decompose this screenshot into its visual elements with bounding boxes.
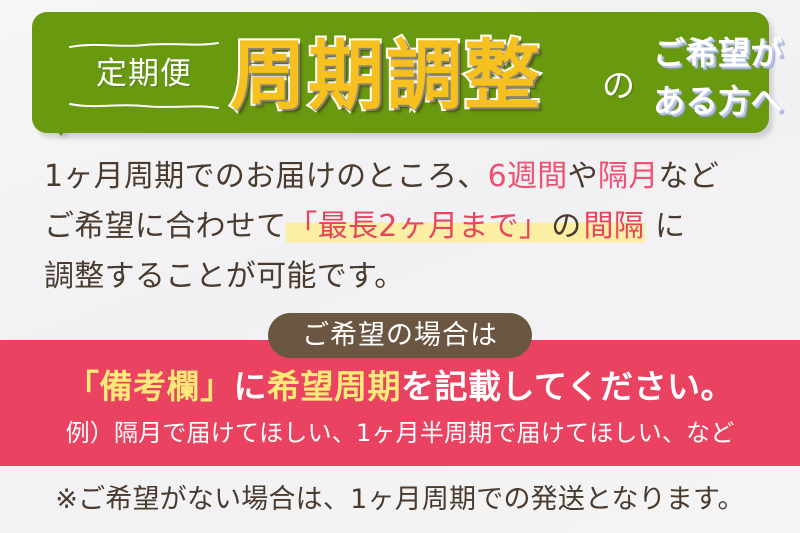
header-banner: 定期便 周期調整 の ご希望が ある方へ (32, 12, 769, 133)
description-paragraph: 1ヶ月周期でのお届けのところ、6週間や隔月など ご希望に合わせて「最長2ヶ月まで… (44, 152, 774, 302)
description-line1-part-c: や (568, 159, 598, 194)
description-line2-part-a: ご希望に合わせて (44, 209, 286, 244)
description-line-3: 調整することが可能です。 (44, 252, 774, 302)
description-line1-highlight-6weeks: 6週間 (488, 159, 568, 194)
promo-graphic: 定期便 周期調整 の ご希望が ある方へ 1ヶ月周期でのお届けのところ、6週間や… (0, 0, 800, 533)
description-line1-part-a: 1ヶ月周期でのお届けのところ、 (44, 159, 488, 194)
instruction-band-line-1: 「備考欄」に希望周期を記載してください。 (0, 364, 800, 410)
subscription-badge-label: 定期便 (66, 50, 222, 98)
instruction-desired-cycle-label: 希望周期 (267, 367, 401, 406)
wave-rule-top-icon (69, 41, 219, 49)
banner-side-text-line1: ご希望が (642, 29, 794, 77)
wave-rule-bottom-icon (69, 102, 219, 110)
description-line1-highlight-bimonthly: 隔月 (598, 159, 659, 194)
description-line-2: ご希望に合わせて「最長2ヶ月まで」の間隔 に (44, 202, 774, 252)
footer-note: ※ご希望がない場合は、1ヶ月周期での発送となります。 (0, 480, 800, 520)
description-line2-highlight-maxtwomonths: 「最長2ヶ月まで」 (286, 209, 550, 244)
instruction-line1-part-b: に (233, 367, 267, 406)
header-banner-body: 定期便 周期調整 の ご希望が ある方へ (32, 12, 769, 133)
instruction-band: 「備考欄」に希望周期を記載してください。 例）隔月で届けてほしい、1ヶ月半周期で… (0, 340, 800, 466)
instruction-remarks-field-label: 「備考欄」 (66, 367, 234, 406)
description-line2-highlight-interval: 間隔 (583, 209, 646, 244)
description-line1-part-e: など (659, 159, 720, 194)
description-line2-part-e: に (645, 209, 685, 244)
banner-main-title: 周期調整 (230, 28, 542, 124)
instruction-band-example: 例）隔月で届けてほしい、1ヶ月半周期で届けてほしい、など (0, 416, 800, 450)
banner-connector-particle: の (602, 66, 635, 106)
description-line2-part-c: の (550, 209, 582, 244)
instruction-line1-part-d: を記載してください。 (401, 367, 734, 406)
banner-side-text: ご希望が ある方へ (642, 29, 794, 125)
condition-pill-badge: ご希望の場合は (268, 313, 532, 358)
banner-side-text-line2: ある方へ (642, 77, 794, 125)
subscription-badge: 定期便 (66, 39, 222, 109)
description-line-1: 1ヶ月周期でのお届けのところ、6週間や隔月など (44, 152, 774, 202)
